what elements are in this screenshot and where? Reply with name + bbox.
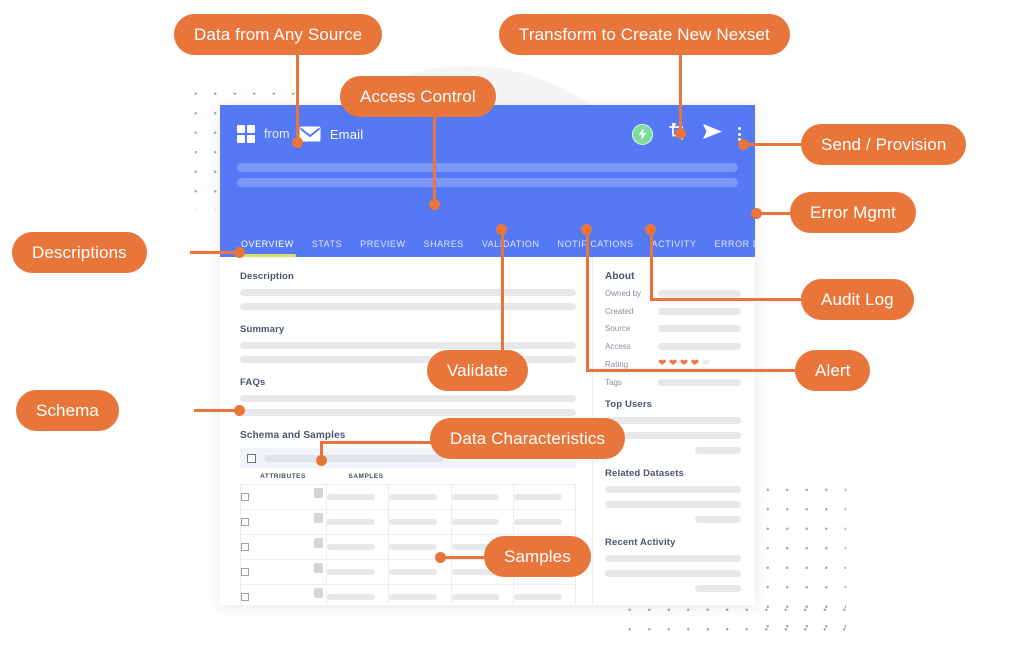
recent-activity-section: Recent Activity	[605, 537, 741, 592]
leader-knob-descriptions	[234, 247, 245, 258]
about-row-tags: Tags	[605, 378, 741, 387]
heart-icon-empty[interactable]: ❤	[702, 359, 710, 369]
grid-icon[interactable]	[237, 125, 255, 143]
app-header: from Email	[220, 105, 755, 227]
skeleton-bar-short	[695, 447, 741, 454]
callout-validate[interactable]: Validate	[427, 350, 528, 391]
callout-send-provision[interactable]: Send / Provision	[801, 124, 966, 165]
data-type-chip-icon	[314, 588, 323, 598]
table-row[interactable]	[241, 510, 576, 535]
about-row-rating: Rating ❤ ❤ ❤ ❤ ❤	[605, 359, 741, 369]
sample-cell	[327, 585, 389, 606]
header-skeleton-bar	[237, 178, 738, 187]
leader-knob-data-characteristics	[316, 455, 327, 466]
sample-cell	[389, 510, 451, 535]
callout-access-control[interactable]: Access Control	[340, 76, 496, 117]
rating-hearts[interactable]: ❤ ❤ ❤ ❤ ❤	[658, 359, 710, 369]
related-datasets-section: Related Datasets	[605, 468, 741, 523]
table-row[interactable]	[241, 585, 576, 606]
about-value-skeleton	[658, 343, 741, 350]
skeleton-bar	[240, 395, 576, 402]
about-value-skeleton	[658, 379, 741, 386]
tab-error-data[interactable]: ERROR DATA	[705, 239, 755, 257]
sample-cell	[389, 485, 451, 510]
callout-schema[interactable]: Schema	[16, 390, 119, 431]
description-section: Description	[240, 271, 576, 310]
leader-knob-samples	[435, 552, 446, 563]
skeleton-bar	[605, 432, 741, 439]
section-title-related-datasets: Related Datasets	[605, 468, 741, 479]
skeleton-bar	[240, 342, 576, 349]
skeleton-bar	[240, 409, 576, 416]
skeleton-bar	[605, 570, 741, 577]
leader-knob-transform-new-nexset	[675, 128, 686, 139]
row-checkbox[interactable]	[241, 493, 249, 501]
data-type-chip-icon	[314, 563, 323, 573]
leader-knob-schema	[234, 405, 245, 416]
select-all-checkbox[interactable]	[247, 454, 256, 463]
faqs-section: FAQs	[240, 377, 576, 416]
header-skeleton-bars	[220, 163, 755, 187]
row-checkbox[interactable]	[241, 568, 249, 576]
row-checkbox[interactable]	[241, 593, 249, 601]
data-type-chip-icon	[314, 488, 323, 498]
sample-cell	[451, 585, 513, 606]
leader-access-control	[433, 115, 436, 205]
leader-alert-h	[586, 369, 797, 372]
about-key: Owned by	[605, 289, 651, 298]
tab-bar: OVERVIEW STATS PREVIEW SHARES VALIDATION…	[220, 227, 755, 257]
row-checkbox[interactable]	[241, 543, 249, 551]
schema-search-placeholder-bar[interactable]	[264, 455, 444, 462]
about-row-source: Source	[605, 324, 741, 333]
callout-alert[interactable]: Alert	[795, 350, 870, 391]
sample-cell	[389, 560, 451, 585]
about-row-access: Access	[605, 342, 741, 351]
header-source-label: Email	[330, 127, 364, 142]
data-type-chip-icon	[314, 513, 323, 523]
sample-cell	[389, 585, 451, 606]
sample-cell	[327, 560, 389, 585]
heart-icon[interactable]: ❤	[669, 359, 677, 369]
about-key: Access	[605, 342, 651, 351]
sample-cell	[451, 510, 513, 535]
leader-knob-alert	[581, 224, 592, 235]
table-row[interactable]	[241, 485, 576, 510]
callout-data-characteristics[interactable]: Data Characteristics	[430, 418, 625, 459]
sample-cell	[327, 510, 389, 535]
sample-cell	[327, 485, 389, 510]
heart-icon[interactable]: ❤	[680, 359, 688, 369]
tab-shares[interactable]: SHARES	[415, 239, 473, 257]
dot-grid-gray-right	[758, 480, 846, 640]
callout-error-mgmt[interactable]: Error Mgmt	[790, 192, 916, 233]
section-title-top-users: Top Users	[605, 399, 741, 410]
about-row-owned-by: Owned by	[605, 289, 741, 298]
leader-data-from-any-source	[296, 52, 299, 142]
tab-preview[interactable]: PREVIEW	[351, 239, 414, 257]
skeleton-bar-short	[695, 585, 741, 592]
about-value-skeleton	[658, 308, 741, 315]
row-checkbox[interactable]	[241, 518, 249, 526]
tab-stats[interactable]: STATS	[303, 239, 351, 257]
schema-column-headers: ATTRIBUTES SAMPLES	[240, 473, 576, 484]
leader-knob-access-control	[429, 199, 440, 210]
leader-audit-log-v	[650, 228, 653, 300]
section-title-description: Description	[240, 271, 576, 282]
callout-transform-new-nexset[interactable]: Transform to Create New Nexset	[499, 14, 790, 55]
attribute-cell[interactable]	[241, 485, 327, 510]
callout-data-from-any-source[interactable]: Data from Any Source	[174, 14, 382, 55]
data-type-chip-icon	[314, 538, 323, 548]
sample-cell	[513, 510, 575, 535]
skeleton-bar-short	[695, 516, 741, 523]
send-icon[interactable]	[702, 123, 723, 145]
attribute-cell[interactable]	[241, 535, 327, 560]
header-skeleton-bar	[237, 163, 738, 172]
leader-knob-validate	[496, 224, 507, 235]
skeleton-bar	[605, 417, 741, 424]
leader-data-characteristics-h	[320, 441, 436, 444]
skeleton-bar	[605, 555, 741, 562]
sample-cell	[513, 585, 575, 606]
heart-icon[interactable]: ❤	[658, 359, 666, 369]
callout-audit-log[interactable]: Audit Log	[801, 279, 914, 320]
about-row-created: Created	[605, 307, 741, 316]
tab-validation[interactable]: VALIDATION	[473, 239, 549, 257]
leader-knob-audit-log	[645, 224, 656, 235]
heart-icon[interactable]: ❤	[691, 359, 699, 369]
leader-alert-v	[586, 228, 589, 371]
skeleton-bar	[605, 501, 741, 508]
sample-cell	[451, 485, 513, 510]
about-key: Source	[605, 324, 651, 333]
top-users-section: Top Users	[605, 399, 741, 454]
diagram-canvas: from Email	[0, 0, 1024, 647]
sample-cell	[513, 485, 575, 510]
leader-transform-new-nexset	[679, 52, 682, 134]
section-title-about: About	[605, 271, 741, 282]
callout-descriptions[interactable]: Descriptions	[12, 232, 147, 273]
leader-error-mgmt	[757, 212, 792, 215]
leader-validate	[501, 228, 504, 354]
dot-grid-gray-bottom	[620, 600, 850, 644]
about-key: Tags	[605, 378, 651, 387]
bolt-badge-icon[interactable]	[632, 124, 653, 145]
about-value-skeleton	[658, 325, 741, 332]
header-from-label: from	[264, 127, 290, 141]
header-actions	[632, 122, 741, 146]
sample-cell	[327, 535, 389, 560]
leader-knob-error-mgmt	[751, 208, 762, 219]
leader-send-provision	[744, 143, 804, 146]
skeleton-bar	[240, 289, 576, 296]
tab-notifications[interactable]: NOTIFICATIONS	[549, 239, 643, 257]
leader-knob-send-provision	[738, 139, 749, 150]
about-key: Created	[605, 307, 651, 316]
leader-audit-log-h	[650, 298, 802, 301]
attribute-cell[interactable]	[241, 585, 327, 606]
column-header-samples: SAMPLES	[326, 473, 406, 480]
leader-knob-data-from-any-source	[292, 137, 303, 148]
section-title-recent-activity: Recent Activity	[605, 537, 741, 548]
summary-section: Summary	[240, 324, 576, 363]
about-value-skeleton	[658, 290, 741, 297]
skeleton-bar	[240, 303, 576, 310]
callout-samples[interactable]: Samples	[484, 536, 591, 577]
skeleton-bar	[605, 486, 741, 493]
about-key: Rating	[605, 360, 651, 369]
column-header-attributes: ATTRIBUTES	[240, 473, 326, 480]
attribute-cell[interactable]	[241, 560, 327, 585]
attribute-cell[interactable]	[241, 510, 327, 535]
section-title-summary: Summary	[240, 324, 576, 335]
